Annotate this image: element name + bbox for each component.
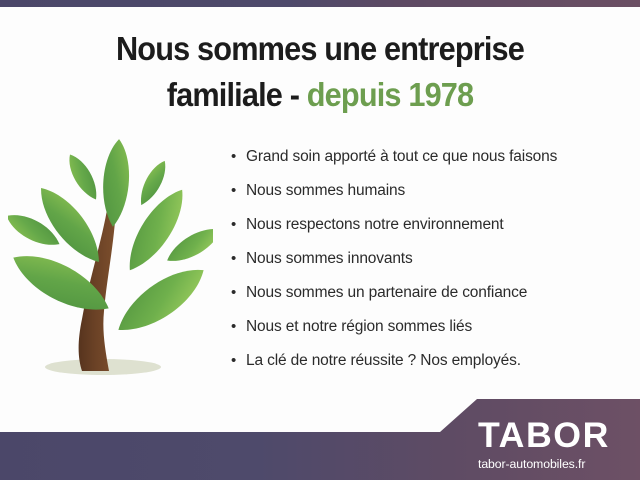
tree-illustration: [8, 135, 213, 390]
list-item-label: Nous et notre région sommes liés: [246, 318, 472, 336]
list-item: • Grand soin apporté à tout ce que nous …: [231, 148, 631, 182]
tree-svg: [8, 135, 213, 390]
page-title: Nous sommes une entreprise familiale - d…: [22, 26, 617, 117]
list-item: • Nous sommes innovants: [231, 250, 631, 284]
leaf-upper-right: [118, 182, 194, 278]
list-item-label: Grand soin apporté à tout ce que nous fa…: [246, 148, 557, 166]
list-item-label: Nous respectons notre environnement: [246, 216, 504, 234]
bullet-icon: •: [231, 319, 246, 334]
presentation-slide: Nous sommes une entreprise familiale - d…: [0, 0, 640, 480]
leaf-top-left-small: [63, 150, 103, 203]
brand-logo[interactable]: TABOR tabor-automobiles.fr: [478, 418, 638, 470]
list-item: • Nous sommes humains: [231, 182, 631, 216]
bullet-icon: •: [231, 183, 246, 198]
list-item-label: La clé de notre réussite ? Nos employés.: [246, 352, 521, 370]
bullet-icon: •: [231, 285, 246, 300]
leaf-top-center: [100, 138, 132, 228]
list-item: • Nous respectons notre environnement: [231, 216, 631, 250]
headline-line-2: familiale -: [167, 76, 307, 113]
brand-wordmark: TABOR: [478, 418, 640, 453]
headline-line-1: Nous sommes une entreprise: [116, 30, 524, 67]
list-item: • La clé de notre réussite ? Nos employé…: [231, 352, 631, 386]
value-list: • Grand soin apporté à tout ce que nous …: [231, 148, 631, 386]
brand-website: tabor-automobiles.fr: [478, 458, 638, 470]
list-item-label: Nous sommes humains: [246, 182, 405, 200]
list-item: • Nous sommes un partenaire de confiance: [231, 284, 631, 318]
bullet-icon: •: [231, 149, 246, 164]
bullet-icon: •: [231, 251, 246, 266]
leaf-lower-right: [109, 257, 213, 344]
top-accent-band: [0, 0, 640, 7]
bullet-icon: •: [231, 217, 246, 232]
headline-accent: depuis 1978: [307, 76, 473, 113]
list-item-label: Nous sommes innovants: [246, 250, 413, 268]
list-item-label: Nous sommes un partenaire de confiance: [246, 284, 527, 302]
bullet-icon: •: [231, 353, 246, 368]
list-item: • Nous et notre région sommes liés: [231, 318, 631, 352]
